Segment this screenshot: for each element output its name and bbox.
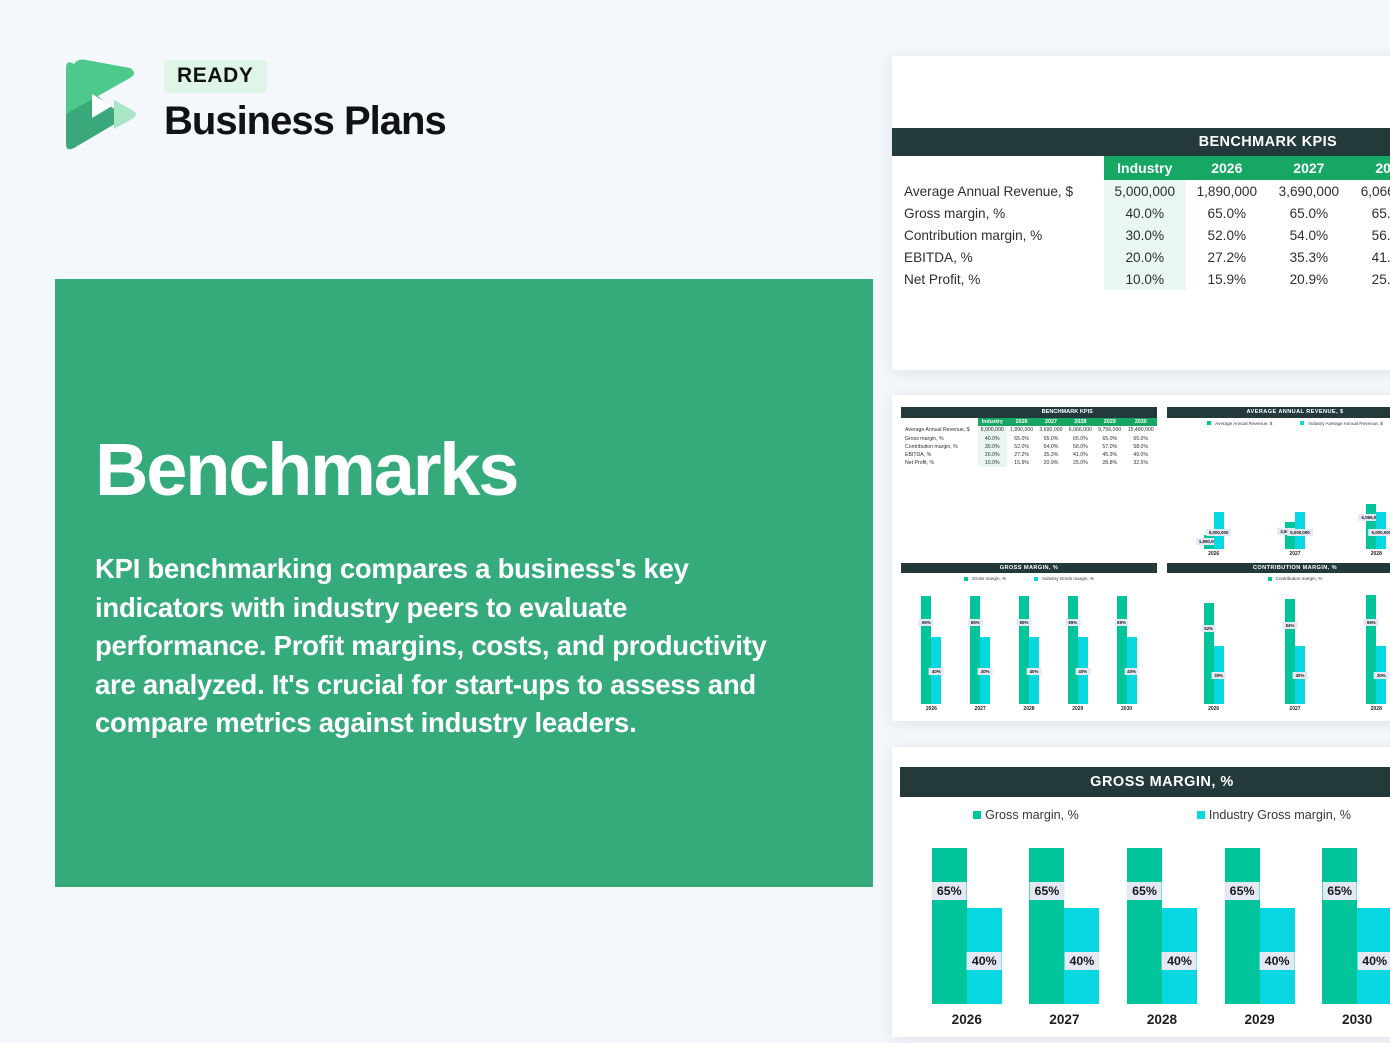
chart-bar-group: 65%40% bbox=[932, 836, 1002, 1004]
cell-value: 65.0% bbox=[1268, 202, 1350, 224]
chart-data-label: 5,000,000 bbox=[1206, 529, 1232, 536]
chart-data-label: 40% bbox=[1027, 668, 1042, 675]
chart-contribution-margin-mid: CONTRIBUTION MARGIN, % Contribution marg… bbox=[1167, 563, 1390, 713]
chart-category-label: 2028 bbox=[1371, 706, 1382, 712]
table-row: Contribution margin, % 30.0% 52.0% 54.0%… bbox=[901, 443, 1157, 451]
chart-category-label: 2030 bbox=[1342, 1012, 1372, 1027]
chart-legend: Gross margin, % Industry Gross margin, % bbox=[900, 797, 1390, 822]
chart-bar[interactable]: 65% bbox=[970, 596, 980, 704]
chart-data-label: 65% bbox=[919, 619, 934, 626]
chart-bar[interactable]: 1,890,000 bbox=[1204, 535, 1214, 549]
chart-data-label: 40% bbox=[1162, 952, 1197, 970]
cell-value: 15,480,000 bbox=[1124, 426, 1157, 434]
chart-group: 65%40%2027 bbox=[970, 587, 990, 712]
cell-value: 5,000,000 bbox=[978, 426, 1007, 434]
chart-bar-group: 56%30% bbox=[1366, 587, 1386, 704]
cell-value: 10.0% bbox=[1104, 268, 1186, 290]
cell-value: 65.0% bbox=[1066, 435, 1095, 443]
chart-category-label: 2027 bbox=[1289, 551, 1300, 557]
row-label: EBITDA, % bbox=[892, 246, 1104, 268]
legend-swatch-icon bbox=[1034, 577, 1038, 581]
col-head-blank bbox=[901, 418, 978, 427]
chart-group: 65%40%2030 bbox=[1322, 836, 1390, 1027]
chart-category-label: 2027 bbox=[1049, 1012, 1079, 1027]
cell-value: 35.3% bbox=[1268, 246, 1350, 268]
mid-contribution-chart-cell: CONTRIBUTION MARGIN, % Contribution marg… bbox=[1162, 560, 1390, 716]
chart-group: 65%40%2026 bbox=[921, 587, 941, 712]
chart-data-label: 65% bbox=[1017, 619, 1032, 626]
cell-value: 20.0% bbox=[1104, 246, 1186, 268]
card-benchmark-table-top[interactable]: BENCHMARK KPIS Industry 2026 2027 2028 A… bbox=[892, 56, 1390, 370]
chart-category-label: 2028 bbox=[1371, 551, 1382, 557]
table-header-row: Industry 2026 2027 2028 bbox=[892, 156, 1390, 180]
chart-bar[interactable]: 40% bbox=[1064, 908, 1099, 1004]
cell-value: 57.0% bbox=[1095, 443, 1124, 451]
table-row: EBITDA, % 20.0% 27.2% 35.3% 41.0% bbox=[892, 246, 1390, 268]
chart-title: GROSS MARGIN, % bbox=[900, 767, 1390, 797]
chart-group: 54%30%2027 bbox=[1285, 587, 1305, 712]
cell-value: 9,756,000 bbox=[1095, 426, 1124, 434]
chart-bar[interactable]: 40% bbox=[1127, 637, 1137, 704]
mid-col-left: BENCHMARK KPIS Industry 2026 2027 2028 2… bbox=[896, 404, 1162, 715]
table-row: Gross margin, % 40.0% 65.0% 65.0% 65.0% bbox=[892, 202, 1390, 224]
chart-bar-group: 1,890,0005,000,000 bbox=[1204, 432, 1224, 549]
col-head-2027: 2027 bbox=[1036, 418, 1065, 427]
chart-title: CONTRIBUTION MARGIN, % bbox=[1167, 563, 1390, 574]
chart-bar-group: 65%40% bbox=[1117, 587, 1137, 704]
chart-bar[interactable]: 5,000,000 bbox=[1214, 512, 1224, 548]
chart-bar[interactable]: 65% bbox=[1225, 848, 1260, 1004]
cell-value: 32.5% bbox=[1124, 459, 1157, 467]
legend-item: Industry Gross margin, % bbox=[1197, 808, 1351, 822]
chart-legend: Contribution margin, % bbox=[1167, 573, 1390, 581]
chart-group: 65%40%2026 bbox=[932, 836, 1002, 1027]
page-title: Benchmarks bbox=[95, 433, 795, 507]
benchmark-kpis-table-mid: BENCHMARK KPIS Industry 2026 2027 2028 2… bbox=[901, 407, 1157, 467]
hero-panel: Benchmarks KPI benchmarking compares a b… bbox=[55, 279, 873, 887]
chart-data-label: 65% bbox=[1225, 882, 1260, 900]
chart-data-label: 65% bbox=[1127, 882, 1162, 900]
cell-value: 3,690,000 bbox=[1268, 180, 1350, 202]
row-label: Contribution margin, % bbox=[892, 224, 1104, 246]
cell-value: 45.3% bbox=[1095, 451, 1124, 459]
chart-bar-group: 65%40% bbox=[1225, 836, 1295, 1004]
table-header-row: Industry 2026 2027 2028 2029 2030 bbox=[901, 418, 1157, 427]
cell-value: 52.0% bbox=[1186, 224, 1268, 246]
chart-data-label: 65% bbox=[1065, 619, 1080, 626]
chart-data-label: 5,000,000 bbox=[1287, 529, 1313, 536]
chart-category-label: 2029 bbox=[1244, 1012, 1274, 1027]
top-table-wrap: BENCHMARK KPIS Industry 2026 2027 2028 A… bbox=[892, 56, 1390, 290]
chart-bar[interactable]: 52% bbox=[1204, 603, 1214, 704]
chart-bar-group: 6,066,0005,000,000 bbox=[1366, 432, 1386, 549]
chart-bar[interactable]: 65% bbox=[1117, 596, 1127, 704]
legend-swatch-icon bbox=[973, 811, 981, 819]
chart-legend: Gross margin, % Industry Gross margin, % bbox=[901, 573, 1157, 581]
chart-bar[interactable]: 65% bbox=[1068, 596, 1078, 704]
table-title: BENCHMARK KPIS bbox=[1104, 128, 1390, 156]
legend-swatch-icon bbox=[1300, 421, 1304, 425]
brand-name: Business Plans bbox=[164, 100, 446, 142]
chart-data-label: 52% bbox=[1201, 625, 1216, 632]
chart-bar-group: 52%30% bbox=[1204, 587, 1224, 704]
table-row: EBITDA, % 20.0% 27.2% 35.3% 41.0% 45.3% … bbox=[901, 451, 1157, 459]
cell-value: 40.0% bbox=[978, 435, 1007, 443]
chart-category-label: 2028 bbox=[1147, 1012, 1177, 1027]
row-label: Average Annual Revenue, $ bbox=[892, 180, 1104, 202]
chart-bar-group: 65%40% bbox=[1322, 836, 1390, 1004]
col-head-2030: 2030 bbox=[1124, 418, 1157, 427]
col-head-2027: 2027 bbox=[1268, 156, 1350, 180]
table-row: Gross margin, % 40.0% 65.0% 65.0% 65.0% … bbox=[901, 435, 1157, 443]
chart-bar-group: 65%40% bbox=[1127, 836, 1197, 1004]
chart-bar[interactable]: 56% bbox=[1366, 595, 1376, 704]
row-label: Average Annual Revenue, $ bbox=[901, 426, 978, 434]
mid-table-cell: BENCHMARK KPIS Industry 2026 2027 2028 2… bbox=[896, 404, 1162, 560]
cell-value: 25.0% bbox=[1066, 459, 1095, 467]
table-row: Average Annual Revenue, $ 5,000,000 1,89… bbox=[892, 180, 1390, 202]
chart-gross-margin-bottom: GROSS MARGIN, % Gross margin, % Industry… bbox=[900, 767, 1390, 1027]
mid-col-right: AVERAGE ANNUAL REVENUE, $ Average Annual… bbox=[1162, 404, 1390, 715]
chart-average-annual-revenue-mid: AVERAGE ANNUAL REVENUE, $ Average Annual… bbox=[1167, 407, 1390, 557]
chart-bar-group: 65%40% bbox=[1068, 587, 1088, 704]
chart-data-label: 65% bbox=[1029, 882, 1064, 900]
cell-value: 56.0% bbox=[1066, 443, 1095, 451]
chart-bar[interactable]: 5,000,000 bbox=[1295, 512, 1305, 548]
col-head-2029: 2029 bbox=[1095, 418, 1124, 427]
panel-description: KPI benchmarking compares a business's k… bbox=[95, 550, 767, 743]
chart-data-label: 30% bbox=[1293, 672, 1308, 679]
brand-text: READY Business Plans bbox=[164, 60, 446, 142]
chart-title: AVERAGE ANNUAL REVENUE, $ bbox=[1167, 407, 1390, 418]
row-label: Net Profit, % bbox=[901, 459, 978, 467]
cell-value: 5,000,000 bbox=[1104, 180, 1186, 202]
mid-revenue-chart-cell: AVERAGE ANNUAL REVENUE, $ Average Annual… bbox=[1162, 404, 1390, 560]
cell-value: 56.0% bbox=[1350, 224, 1390, 246]
cell-value: 20.0% bbox=[978, 451, 1007, 459]
legend-swatch-icon bbox=[964, 577, 968, 581]
cell-value: 49.0% bbox=[1124, 451, 1157, 459]
chart-group: 65%40%2029 bbox=[1068, 587, 1088, 712]
chart-data-label: 56% bbox=[1364, 619, 1379, 626]
chart-bar[interactable]: 5,000,000 bbox=[1376, 512, 1386, 548]
chart-plot: 65%40%202665%40%202765%40%202865%40%2029… bbox=[901, 581, 1157, 712]
cell-value: 20.9% bbox=[1268, 268, 1350, 290]
row-label: Contribution margin, % bbox=[901, 443, 978, 451]
chart-bar[interactable]: 40% bbox=[967, 908, 1002, 1004]
chart-plot: 52%30%202654%30%202756%30%2028 bbox=[1167, 581, 1390, 712]
chart-group: 56%30%2028 bbox=[1366, 587, 1386, 712]
chart-plot: 1,890,0005,000,00020263,690,0005,000,000… bbox=[1167, 426, 1390, 557]
chart-title: GROSS MARGIN, % bbox=[901, 563, 1157, 574]
chart-bar[interactable]: 40% bbox=[1078, 637, 1088, 704]
table-row: Contribution margin, % 30.0% 52.0% 54.0%… bbox=[892, 224, 1390, 246]
legend-swatch-icon bbox=[1268, 577, 1272, 581]
col-head-2028: 2028 bbox=[1350, 156, 1390, 180]
legend-swatch-icon bbox=[1197, 811, 1205, 819]
chart-group: 52%30%2026 bbox=[1204, 587, 1224, 712]
chart-bar[interactable]: 40% bbox=[1029, 637, 1039, 704]
col-head-2026: 2026 bbox=[1007, 418, 1036, 427]
chart-data-label: 40% bbox=[1357, 952, 1390, 970]
chart-group: 65%40%2027 bbox=[1029, 836, 1099, 1027]
row-label: Gross margin, % bbox=[901, 435, 978, 443]
chart-data-label: 40% bbox=[1124, 668, 1139, 675]
col-head-2026: 2026 bbox=[1186, 156, 1268, 180]
chart-category-label: 2028 bbox=[1023, 706, 1034, 712]
chart-bar[interactable]: 54% bbox=[1285, 599, 1295, 704]
chart-data-label: 40% bbox=[1260, 952, 1295, 970]
table-row: Average Annual Revenue, $ 5,000,000 1,89… bbox=[901, 426, 1157, 434]
chart-bar[interactable]: 40% bbox=[1357, 908, 1390, 1004]
row-label: Gross margin, % bbox=[892, 202, 1104, 224]
table-title-spacer bbox=[901, 407, 978, 418]
cell-value: 15.9% bbox=[1186, 268, 1268, 290]
chart-category-label: 2029 bbox=[1072, 706, 1083, 712]
chart-bar[interactable]: 40% bbox=[931, 637, 941, 704]
chart-plot: 65%40%202665%40%202765%40%202865%40%2029… bbox=[900, 822, 1390, 1027]
chart-bar[interactable]: 30% bbox=[1295, 646, 1305, 704]
cell-value: 6,066,000 bbox=[1350, 180, 1390, 202]
play-triangle-logo-icon bbox=[56, 56, 144, 152]
cell-value: 65.0% bbox=[1036, 435, 1065, 443]
legend-item: Gross margin, % bbox=[973, 808, 1079, 822]
chart-data-label: 65% bbox=[968, 619, 983, 626]
cell-value: 40.0% bbox=[1104, 202, 1186, 224]
cell-value: 20.9% bbox=[1036, 459, 1065, 467]
chart-bar[interactable]: 65% bbox=[932, 848, 967, 1004]
chart-bar[interactable]: 65% bbox=[921, 596, 931, 704]
table-row: Net Profit, % 10.0% 15.9% 20.9% 25.0% bbox=[892, 268, 1390, 290]
chart-group: 65%40%2029 bbox=[1225, 836, 1295, 1027]
chart-group: 65%40%2028 bbox=[1019, 587, 1039, 712]
cell-value: 3,690,000 bbox=[1036, 426, 1065, 434]
chart-data-label: 40% bbox=[1075, 668, 1090, 675]
legend-swatch-icon bbox=[1207, 421, 1211, 425]
cell-value: 41.0% bbox=[1350, 246, 1390, 268]
cell-value: 25.0% bbox=[1350, 268, 1390, 290]
chart-bar[interactable]: 65% bbox=[1322, 848, 1357, 1004]
slide-canvas: READY Business Plans Benchmarks KPI benc… bbox=[0, 0, 1390, 1043]
cell-value: 30.0% bbox=[978, 443, 1007, 451]
chart-category-label: 2026 bbox=[926, 706, 937, 712]
col-head-blank bbox=[892, 156, 1104, 180]
chart-bar[interactable]: 6,066,000 bbox=[1366, 504, 1376, 548]
chart-bar[interactable]: 65% bbox=[1019, 596, 1029, 704]
cell-value: 52.0% bbox=[1007, 443, 1036, 451]
chart-bar-group: 54%30% bbox=[1285, 587, 1305, 704]
cell-value: 65.0% bbox=[1095, 435, 1124, 443]
cell-value: 1,890,000 bbox=[1186, 180, 1268, 202]
col-head-industry: Industry bbox=[1104, 156, 1186, 180]
cell-value: 65.0% bbox=[1186, 202, 1268, 224]
mid-grid: BENCHMARK KPIS Industry 2026 2027 2028 2… bbox=[892, 395, 1390, 721]
chart-data-label: 30% bbox=[1211, 672, 1226, 679]
cell-value: 6,066,000 bbox=[1066, 426, 1095, 434]
cell-value: 27.2% bbox=[1007, 451, 1036, 459]
chart-data-label: 40% bbox=[1064, 952, 1099, 970]
benchmark-kpis-table-top: BENCHMARK KPIS Industry 2026 2027 2028 A… bbox=[892, 128, 1390, 290]
bottom-chart-wrap: GROSS MARGIN, % Gross margin, % Industry… bbox=[892, 747, 1390, 1037]
row-label: EBITDA, % bbox=[901, 451, 978, 459]
cell-value: 54.0% bbox=[1036, 443, 1065, 451]
chart-bar-group: 65%40% bbox=[1029, 836, 1099, 1004]
chart-data-label: 65% bbox=[1114, 619, 1129, 626]
chart-category-label: 2027 bbox=[1289, 706, 1300, 712]
chart-group: 6,066,0005,000,0002028 bbox=[1366, 432, 1386, 557]
chart-bar[interactable]: 65% bbox=[1029, 848, 1064, 1004]
cell-value: 15.9% bbox=[1007, 459, 1036, 467]
cell-value: 35.3% bbox=[1036, 451, 1065, 459]
card-dashboard-mid[interactable]: BENCHMARK KPIS Industry 2026 2027 2028 2… bbox=[892, 395, 1390, 721]
legend-label: Gross margin, % bbox=[985, 808, 1079, 822]
cell-value: 65.0% bbox=[1124, 435, 1157, 443]
chart-bar[interactable]: 30% bbox=[1214, 646, 1224, 704]
legend-label: Industry Gross margin, % bbox=[1209, 808, 1351, 822]
ready-badge: READY bbox=[164, 60, 267, 93]
chart-category-label: 2026 bbox=[1208, 551, 1219, 557]
chart-bar[interactable]: 40% bbox=[1162, 908, 1197, 1004]
table-title-row: BENCHMARK KPIS bbox=[901, 407, 1157, 418]
brand-logo[interactable]: READY Business Plans bbox=[56, 52, 456, 160]
chart-bar-group: 65%40% bbox=[921, 587, 941, 704]
cell-value: 65.0% bbox=[1350, 202, 1390, 224]
chart-data-label: 54% bbox=[1283, 622, 1298, 629]
cell-value: 58.0% bbox=[1124, 443, 1157, 451]
chart-data-label: 65% bbox=[1322, 882, 1357, 900]
col-head-industry: Industry bbox=[978, 418, 1007, 427]
chart-category-label: 2030 bbox=[1121, 706, 1132, 712]
chart-data-label: 40% bbox=[978, 668, 993, 675]
row-label: Net Profit, % bbox=[892, 268, 1104, 290]
table-title-row: BENCHMARK KPIS bbox=[892, 128, 1390, 156]
chart-bar-group: 65%40% bbox=[1019, 587, 1039, 704]
chart-category-label: 2026 bbox=[952, 1012, 982, 1027]
chart-group: 65%40%2028 bbox=[1127, 836, 1197, 1027]
chart-bar[interactable]: 30% bbox=[1376, 646, 1386, 704]
card-gross-margin-chart[interactable]: GROSS MARGIN, % Gross margin, % Industry… bbox=[892, 747, 1390, 1037]
table-title: BENCHMARK KPIS bbox=[978, 407, 1157, 418]
chart-data-label: 5,000,000 bbox=[1369, 529, 1390, 536]
chart-bar[interactable]: 40% bbox=[1260, 908, 1295, 1004]
table-title-spacer bbox=[892, 128, 1104, 156]
chart-bar-group: 65%40% bbox=[970, 587, 990, 704]
cell-value: 10.0% bbox=[978, 459, 1007, 467]
cell-value: 1,890,000 bbox=[1007, 426, 1036, 434]
chart-data-label: 65% bbox=[932, 882, 967, 900]
chart-data-label: 30% bbox=[1374, 672, 1389, 679]
chart-gross-margin-mid: GROSS MARGIN, % Gross margin, % Industry… bbox=[901, 563, 1157, 713]
chart-category-label: 2026 bbox=[1208, 706, 1219, 712]
cell-value: 28.8% bbox=[1095, 459, 1124, 467]
chart-group: 3,690,0005,000,0002027 bbox=[1285, 432, 1305, 557]
chart-data-label: 40% bbox=[967, 952, 1002, 970]
chart-bar[interactable]: 40% bbox=[980, 637, 990, 704]
chart-data-label: 40% bbox=[929, 668, 944, 675]
chart-bar-group: 3,690,0005,000,000 bbox=[1285, 432, 1305, 549]
chart-group: 1,890,0005,000,0002026 bbox=[1204, 432, 1224, 557]
cell-value: 27.2% bbox=[1186, 246, 1268, 268]
cell-value: 54.0% bbox=[1268, 224, 1350, 246]
col-head-2028: 2028 bbox=[1066, 418, 1095, 427]
chart-legend: Average Annual Revenue, $ Industry Avera… bbox=[1167, 418, 1390, 426]
chart-bar[interactable]: 65% bbox=[1127, 848, 1162, 1004]
cell-value: 65.0% bbox=[1007, 435, 1036, 443]
cell-value: 41.0% bbox=[1066, 451, 1095, 459]
table-row: Net Profit, % 10.0% 15.9% 20.9% 25.0% 28… bbox=[901, 459, 1157, 467]
cell-value: 30.0% bbox=[1104, 224, 1186, 246]
mid-gross-margin-chart-cell: GROSS MARGIN, % Gross margin, % Industry… bbox=[896, 560, 1162, 716]
chart-category-label: 2027 bbox=[975, 706, 986, 712]
chart-group: 65%40%2030 bbox=[1117, 587, 1137, 712]
